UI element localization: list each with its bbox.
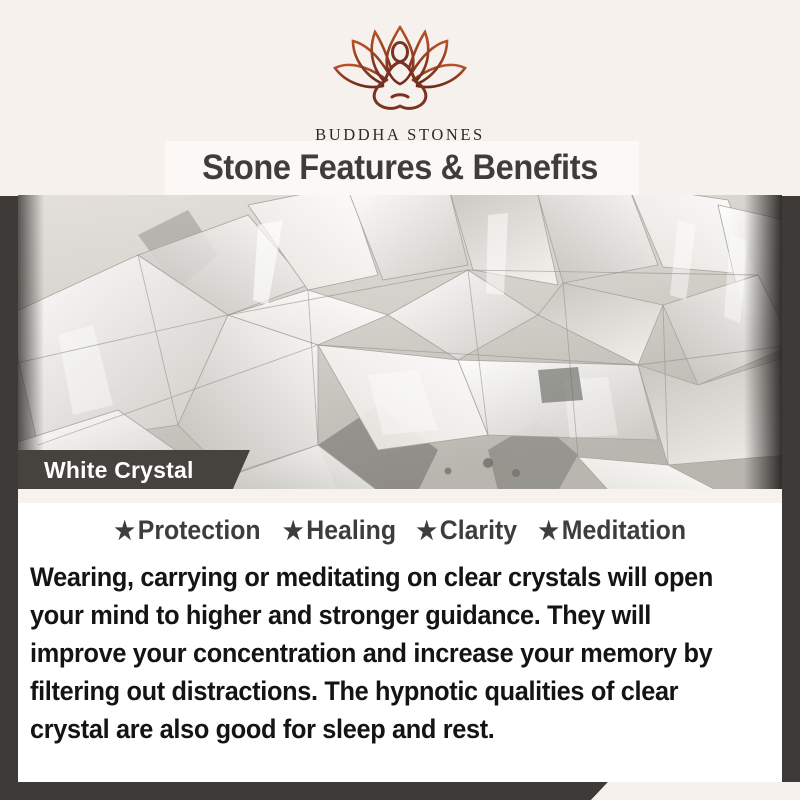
star-icon: ★: [282, 517, 305, 545]
white-crystal-cluster-photo: [18, 195, 782, 491]
frame-bottom-bar: [0, 782, 608, 800]
stone-name-label: White Crystal: [44, 450, 194, 491]
stone-description: Wearing, carrying or meditating on clear…: [30, 558, 735, 748]
frame-bottom-right-fill: [591, 782, 800, 800]
benefits-row: ★Protection★Healing★Clarity★Meditation: [18, 515, 782, 546]
benefit-label: Meditation: [562, 515, 686, 545]
benefit-item-healing: ★Healing: [282, 515, 395, 546]
benefit-label: Healing: [306, 515, 396, 545]
frame-left-strip: [0, 188, 18, 782]
brand-logo: BUDDHA STONES: [0, 24, 800, 145]
page-title: Stone Features & Benefits: [28, 140, 772, 195]
benefit-item-meditation: ★Meditation: [538, 515, 686, 546]
stone-features-infographic: BUDDHA STONES Stone Features & Benefits: [0, 0, 800, 800]
star-icon: ★: [114, 517, 137, 545]
star-icon: ★: [416, 517, 439, 545]
benefit-item-protection: ★Protection: [114, 515, 260, 546]
star-icon: ★: [538, 517, 561, 545]
lotus-meditation-icon: [0, 24, 800, 121]
benefit-label: Protection: [137, 515, 260, 545]
header: BUDDHA STONES Stone Features & Benefits: [0, 0, 800, 196]
benefit-label: Clarity: [439, 515, 516, 545]
benefit-item-clarity: ★Clarity: [416, 515, 517, 546]
